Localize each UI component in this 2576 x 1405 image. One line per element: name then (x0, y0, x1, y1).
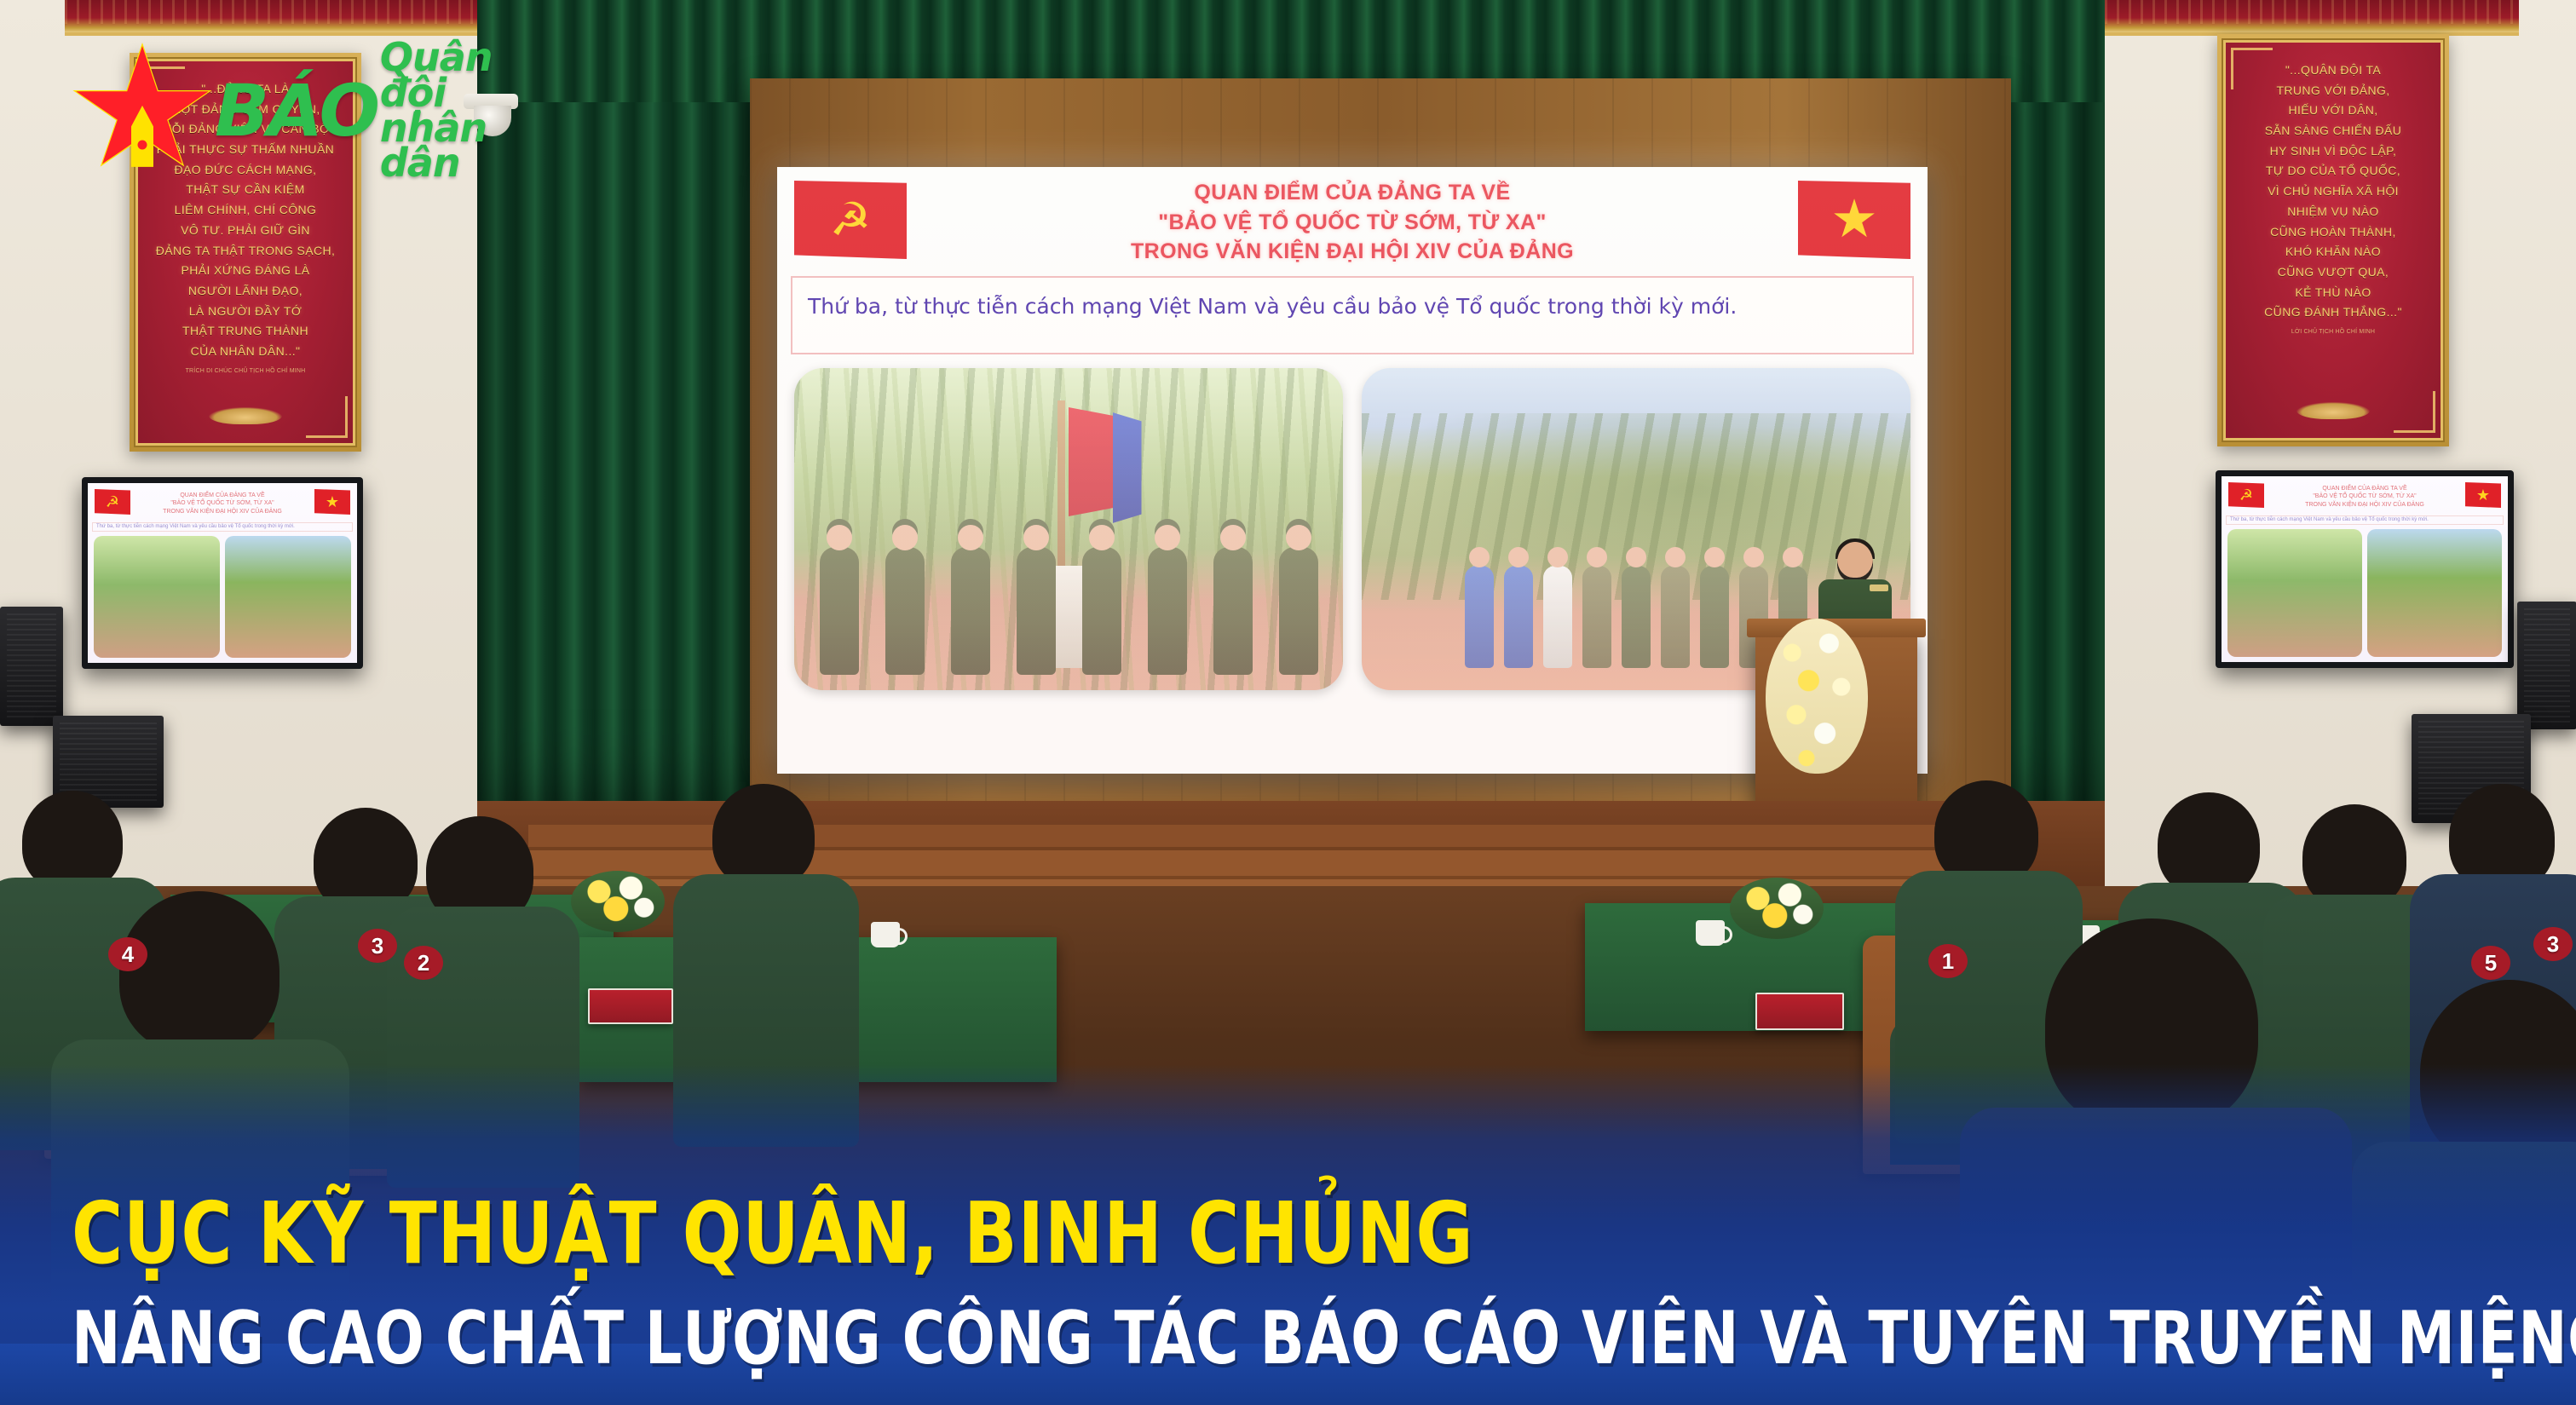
party-flag-icon: ☭ (794, 181, 907, 259)
plaque-left-attribution: TRÍCH DI CHÚC CHỦ TỊCH HỒ CHÍ MINH (186, 368, 306, 374)
plaque-crest-icon (2297, 402, 2370, 419)
plaque-right-line: NHIỆM VỤ NÀO (2287, 203, 2378, 222)
plaque-right-line: TỰ DO CỦA TỔ QUỐC, (2266, 162, 2400, 181)
chair-number-badge: 3 (358, 929, 397, 963)
side-monitor-right: ☭ QUAN ĐIỂM CỦA ĐẢNG TA VỀ "BẢO VỆ TỔ QU… (2216, 470, 2514, 668)
plaque-left-line: LÀ NGƯỜI ĐẦY TỚ (189, 302, 302, 321)
audience-head (712, 784, 815, 888)
tea-cup (1696, 920, 1725, 946)
wall-plaque-right-inner: "...QUÂN ĐỘI TA TRUNG VỚI ĐẢNG, HIẾU VỚI… (2223, 40, 2443, 441)
vietnam-flag-icon-small: ★ (314, 489, 350, 515)
monitor-photo-1 (2227, 529, 2362, 657)
chair-number-badge: 3 (2533, 927, 2573, 961)
plaque-right-line: CŨNG ĐÁNH THẮNG..." (2264, 303, 2402, 322)
side-monitor-left-screen: ☭ QUAN ĐIỂM CỦA ĐẢNG TA VỀ "BẢO VỆ TỔ QU… (88, 483, 357, 663)
chair-number-badge: 5 (2471, 946, 2510, 980)
plaque-right-line: CŨNG VƯỢT QUA, (2278, 263, 2389, 282)
monitor-slide-header: ☭ QUAN ĐIỂM CỦA ĐẢNG TA VỀ "BẢO VỆ TỔ QU… (2226, 480, 2504, 514)
slide-body-box: Thứ ba, từ thực tiễn cách mạng Việt Nam … (791, 276, 1914, 354)
red-star-pen-icon (73, 46, 211, 176)
plaque-left-line: THẬT SỰ CẦN KIỆM (186, 181, 304, 199)
channel-watermark-logo: BÁO Quân đội nhân dân (73, 53, 550, 169)
vietnam-flag-icon: ★ (1798, 181, 1910, 259)
monitor-photo-row (2226, 527, 2504, 659)
gold-star-icon: ★ (326, 494, 339, 510)
vietnam-flag-icon-small: ★ (2465, 482, 2501, 508)
slide-title: QUAN ĐIỂM CỦA ĐẢNG TA VỀ "BẢO VỆ TỔ QUỐC… (1131, 178, 1574, 267)
chair-number-badge: 4 (108, 937, 147, 971)
pa-speaker-right-upper (2517, 602, 2576, 729)
monitor-slide-header: ☭ QUAN ĐIỂM CỦA ĐẢNG TA VỀ "BẢO VỆ TỔ QU… (92, 487, 353, 521)
photo-projector-wash (794, 368, 1343, 690)
watermark-brand-main: BÁO (215, 82, 378, 141)
podium-flower-arrangement (1766, 619, 1868, 774)
slide-title-line-3: TRONG VĂN KIỆN ĐẠI HỘI XIV CỦA ĐẢNG (1131, 237, 1574, 267)
plaque-right-line: SẴN SÀNG CHIẾN ĐẤU (2265, 122, 2401, 141)
pen-nib-dot (138, 140, 147, 149)
slide-header: ☭ QUAN ĐIỂM CỦA ĐẢNG TA VỀ "BẢO VỆ TỔ QU… (786, 172, 1919, 273)
table-flower-vase-left (571, 871, 665, 932)
hammer-sickle-icon: ☭ (2239, 487, 2253, 503)
slide-body-text: Thứ ba, từ thực tiễn cách mạng Việt Nam … (808, 290, 1897, 324)
monitor-photo-2 (225, 536, 351, 658)
pa-speaker-left-upper (0, 607, 63, 726)
plaque-left-line: NGƯỜI LÃNH ĐẠO, (188, 282, 303, 301)
foreground-audience-head (119, 891, 279, 1053)
audience-head (22, 791, 123, 891)
chair-number-badge: 2 (404, 946, 443, 980)
monitor-title-line-2: "BẢO VỆ TỔ QUỐC TỪ SỚM, TỪ XA" (163, 499, 282, 507)
monitor-slide-body: Thứ ba, từ thực tiễn cách mạng Việt Nam … (2226, 515, 2504, 525)
plaque-right-line: TRUNG VỚI ĐẢNG, (2276, 82, 2389, 101)
plaque-right-line: HIẾU VỚI DÂN, (2288, 101, 2377, 120)
hammer-sickle-icon: ☭ (830, 197, 871, 243)
plaque-left-line: ĐẢNG TA THẬT TRONG SẠCH, (156, 242, 336, 261)
slide-title-line-1: QUAN ĐIỂM CỦA ĐẢNG TA VỀ (1131, 178, 1574, 208)
tea-cup (871, 922, 900, 947)
monitor-slide-title: QUAN ĐIỂM CỦA ĐẢNG TA VỀ "BẢO VỆ TỔ QUỐC… (2305, 485, 2424, 509)
table-flower-vase-right (1730, 878, 1824, 939)
plaque-right-line: KHÓ KHĂN NÀO (2285, 243, 2381, 262)
plaque-right-line: KẺ THÙ NÀO (2295, 284, 2371, 302)
monitor-photo-2 (2367, 529, 2502, 657)
monitor-slide-body: Thứ ba, từ thực tiễn cách mạng Việt Nam … (92, 522, 353, 532)
video-frame: "...ĐẢNG TA LÀ MỘT ĐẢNG CẦM QUYỀN, MỖI Đ… (0, 0, 2576, 1405)
monitor-title-line-3: TRONG VĂN KIỆN ĐẠI HỘI XIV CỦA ĐẢNG (163, 508, 282, 515)
speaker-head (1837, 542, 1873, 583)
slide-photo-row (794, 368, 1910, 690)
watermark-sub-line-2: nhân dân (380, 111, 550, 181)
plaque-right-line: "...QUÂN ĐỘI TA (2285, 61, 2381, 80)
monitor-photo-1 (94, 536, 220, 658)
monitor-title-line-2: "BẢO VỆ TỔ QUỐC TỪ SỚM, TỪ XA" (2305, 492, 2424, 500)
watermark-text: BÁO Quân đội nhân dân (215, 40, 550, 181)
plaque-left-line: VÔ TƯ. PHẢI GIỮ GÌN (181, 222, 310, 240)
side-monitor-right-screen: ☭ QUAN ĐIỂM CỦA ĐẢNG TA VỀ "BẢO VỆ TỔ QU… (2222, 476, 2508, 662)
monitor-title-line-3: TRONG VĂN KIỆN ĐẠI HỘI XIV CỦA ĐẢNG (2305, 501, 2424, 509)
monitor-photo-row (92, 533, 353, 659)
audience-head (2158, 792, 2260, 896)
watermark-brand-sub: Quân đội nhân dân (380, 40, 550, 181)
plaque-right-attribution: LỜI CHỦ TỊCH HỒ CHÍ MINH (2291, 329, 2375, 335)
lower-third-caption: CỤC KỸ THUẬT QUÂN, BINH CHỦNG NÂNG CAO C… (0, 1064, 2576, 1405)
name-placard (1755, 993, 1844, 1030)
gold-star-icon: ★ (1830, 193, 1878, 246)
gold-star-icon: ★ (2476, 487, 2490, 503)
plaque-left-line: THẬT TRUNG THÀNH (182, 322, 308, 341)
slide-title-line-2: "BẢO VỆ TỔ QUỐC TỪ SỚM, TỪ XA" (1131, 208, 1574, 238)
hammer-sickle-icon: ☭ (106, 494, 119, 510)
monitor-title-line-1: QUAN ĐIỂM CỦA ĐẢNG TA VỀ (2305, 485, 2424, 492)
caption-subheadline: NÂNG CAO CHẤT LƯỢNG CÔNG TÁC BÁO CÁO VIÊ… (72, 1296, 2576, 1381)
party-flag-icon-small: ☭ (2228, 482, 2264, 508)
monitor-slide-title: QUAN ĐIỂM CỦA ĐẢNG TA VỀ "BẢO VỆ TỔ QUỐC… (163, 492, 282, 515)
plaque-left-line: CỦA NHÂN DÂN..." (191, 343, 301, 361)
wall-plaque-right: "...QUÂN ĐỘI TA TRUNG VỚI ĐẢNG, HIẾU VỚI… (2217, 34, 2449, 446)
chair-number-badge: 1 (1928, 944, 1968, 978)
plaque-left-line: LIÊM CHÍNH, CHÍ CÔNG (175, 201, 317, 220)
plaque-right-line: VÌ CHỦ NGHĨA XÃ HỘI (2268, 182, 2399, 201)
name-placard (588, 988, 673, 1024)
plaque-left-line: PHẢI XỨNG ĐÁNG LÀ (181, 262, 309, 280)
rank-epaulette-icon (1870, 584, 1888, 591)
slide-photo-border-ceremony (794, 368, 1343, 690)
monitor-title-line-1: QUAN ĐIỂM CỦA ĐẢNG TA VỀ (163, 492, 282, 499)
plaque-crest-icon (209, 407, 282, 424)
side-monitor-left: ☭ QUAN ĐIỂM CỦA ĐẢNG TA VỀ "BẢO VỆ TỔ QU… (82, 477, 363, 669)
caption-headline: CỤC KỸ THUẬT QUÂN, BINH CHỦNG (72, 1183, 1474, 1283)
watermark-sub-line-1: Quân đội (380, 40, 550, 111)
plaque-right-line: CŨNG HOÀN THÀNH, (2270, 223, 2396, 242)
plaque-right-line: HY SINH VÌ ĐỘC LẬP, (2270, 142, 2397, 161)
party-flag-icon-small: ☭ (95, 489, 130, 515)
